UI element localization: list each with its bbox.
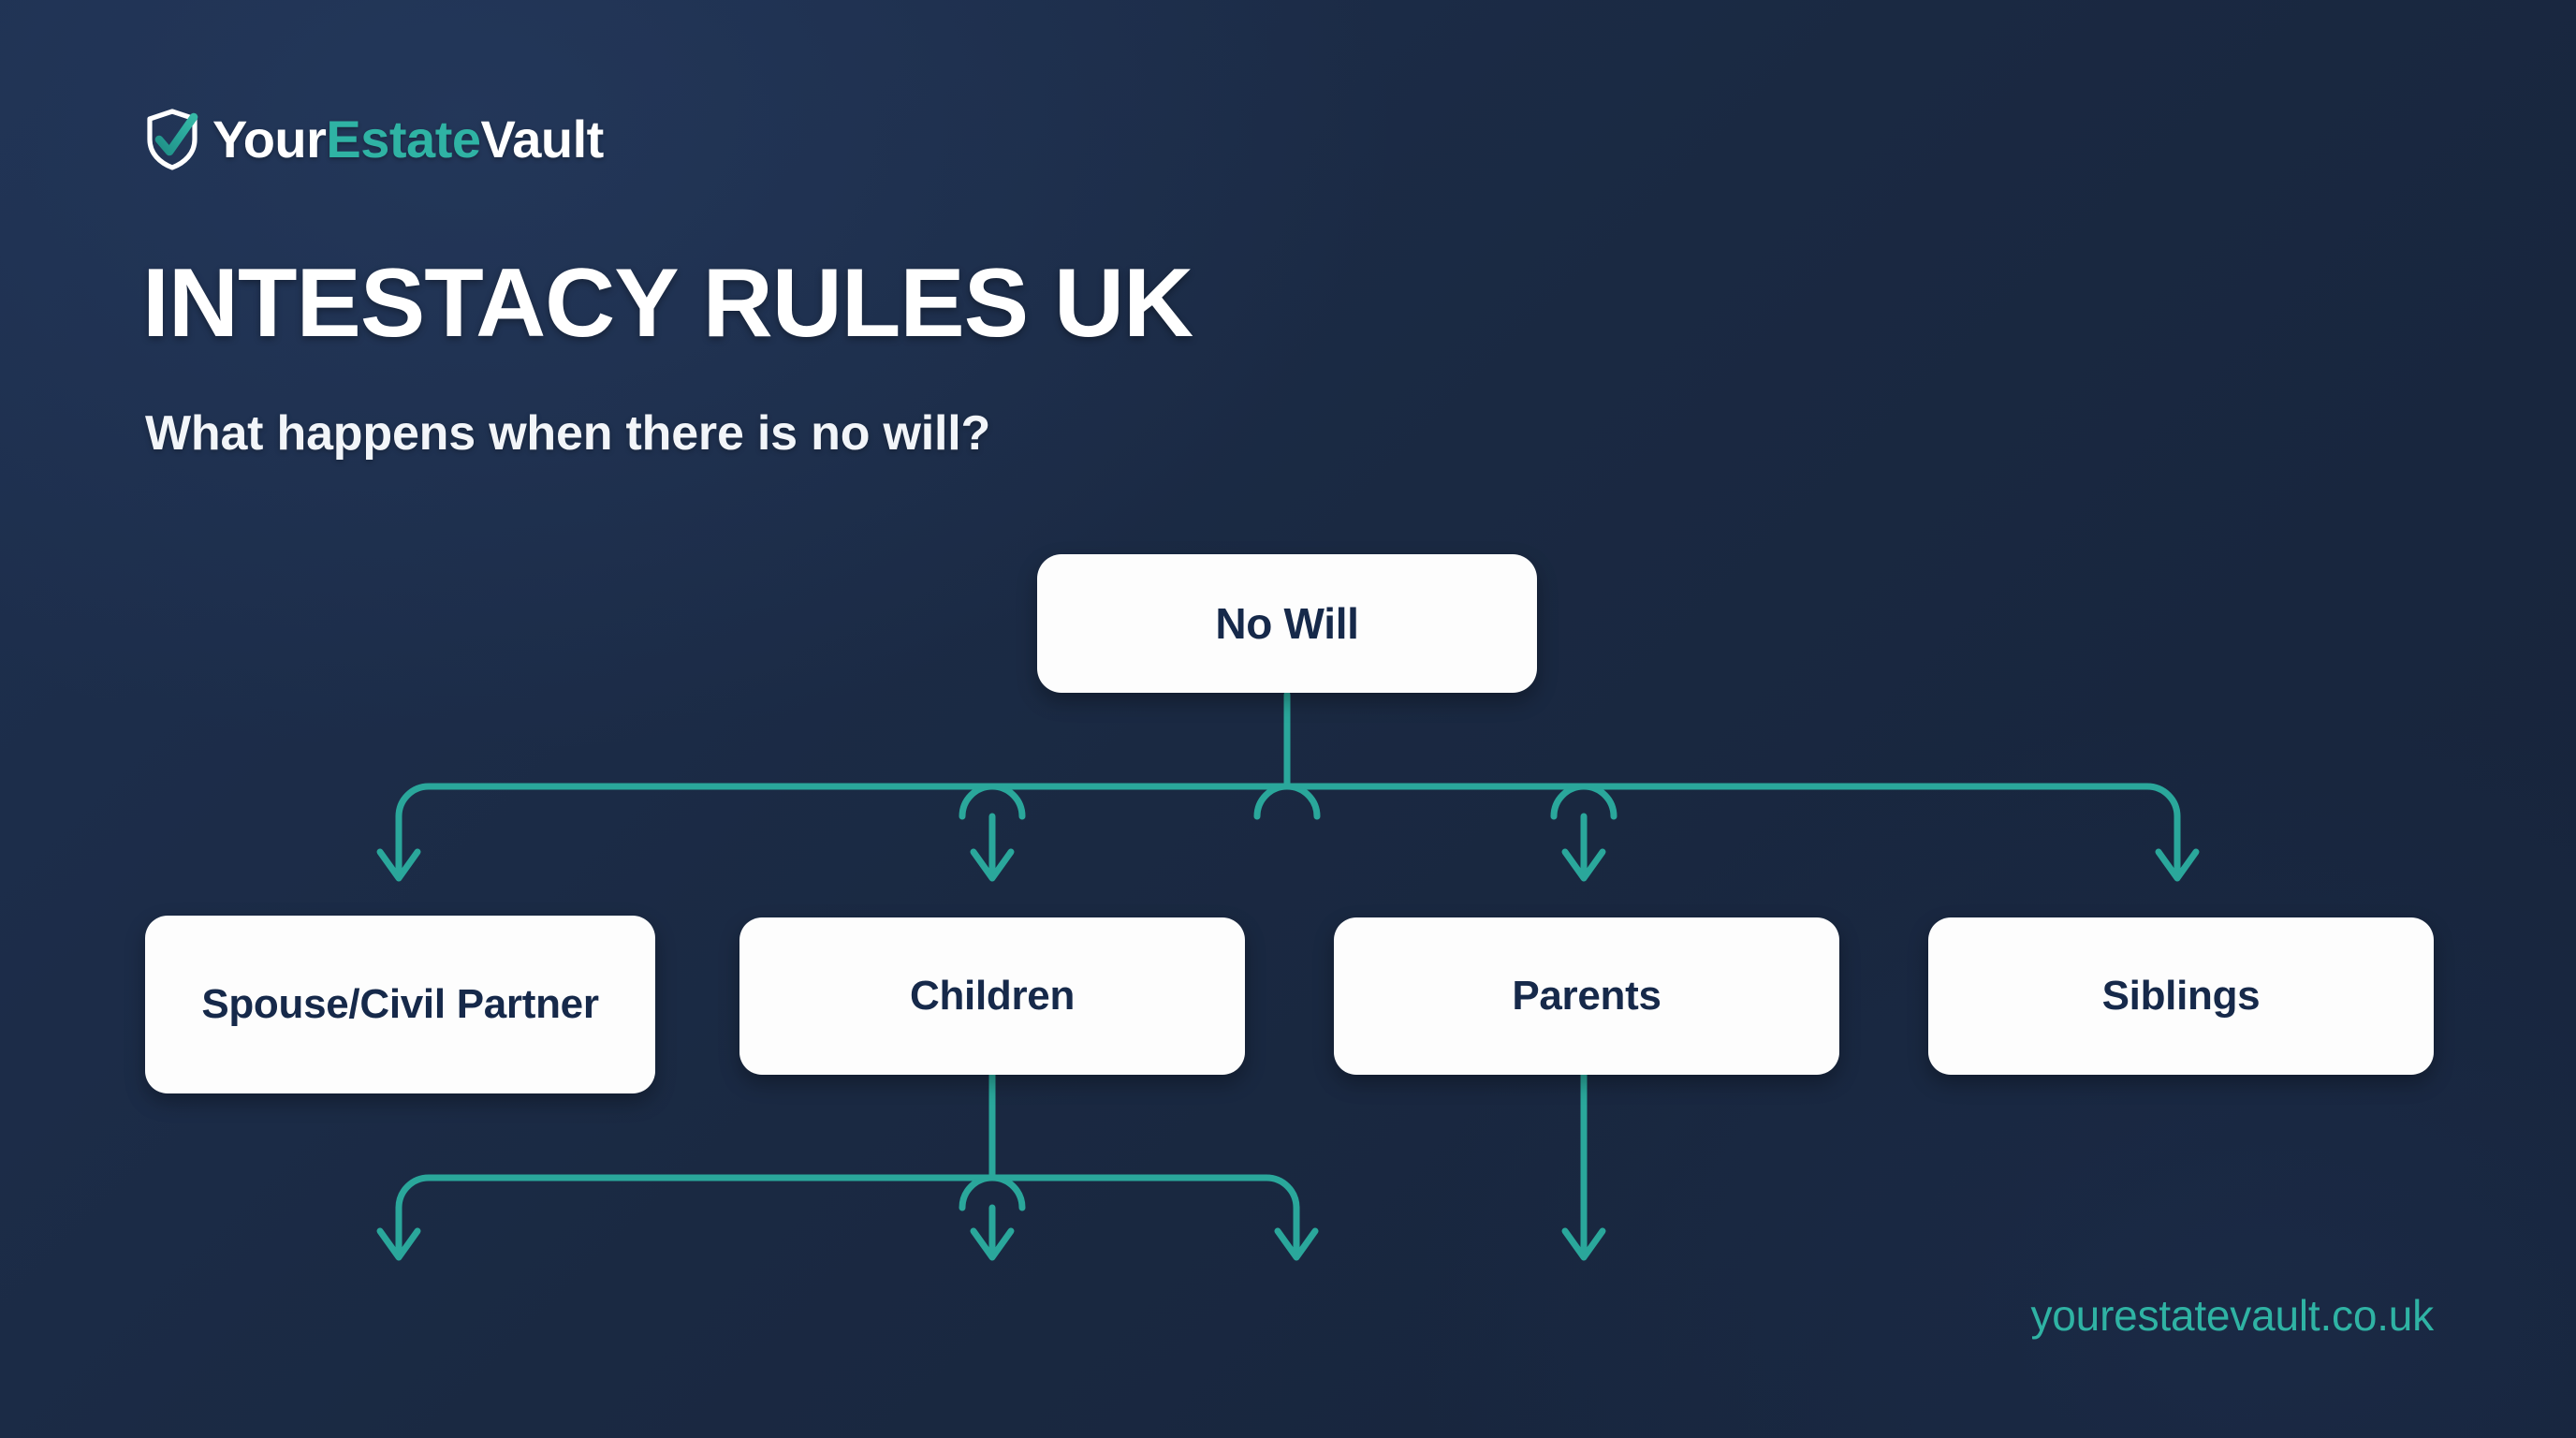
connector-junction-root bbox=[1257, 786, 1287, 816]
infographic-stage: YourEstateVault INTESTACY RULES UK What … bbox=[0, 0, 2576, 1438]
connector-junction-l2-a bbox=[962, 1178, 992, 1208]
connector-junction-l2-b bbox=[992, 1178, 1022, 1208]
connector-junction-parents bbox=[1554, 786, 1584, 816]
flow-node-no-will[interactable]: No Will bbox=[1037, 554, 1537, 693]
connector-junction-parents-2 bbox=[1584, 786, 1614, 816]
connector-junction-children-2 bbox=[992, 786, 1022, 816]
connector-junction-root-2 bbox=[1287, 786, 1317, 816]
connector-level2-bus bbox=[399, 1178, 1296, 1208]
flow-node-siblings[interactable]: Siblings bbox=[1928, 917, 2434, 1075]
flow-node-spouse-civil-partner[interactable]: Spouse/Civil Partner bbox=[145, 916, 655, 1093]
flow-connectors bbox=[0, 0, 2576, 1438]
flow-node-parents[interactable]: Parents bbox=[1334, 917, 1839, 1075]
website-url[interactable]: yourestatevault.co.uk bbox=[2031, 1290, 2435, 1341]
connector-junction-children bbox=[962, 786, 992, 816]
connector-level1-bus bbox=[399, 786, 2177, 816]
flow-node-children[interactable]: Children bbox=[739, 917, 1245, 1075]
